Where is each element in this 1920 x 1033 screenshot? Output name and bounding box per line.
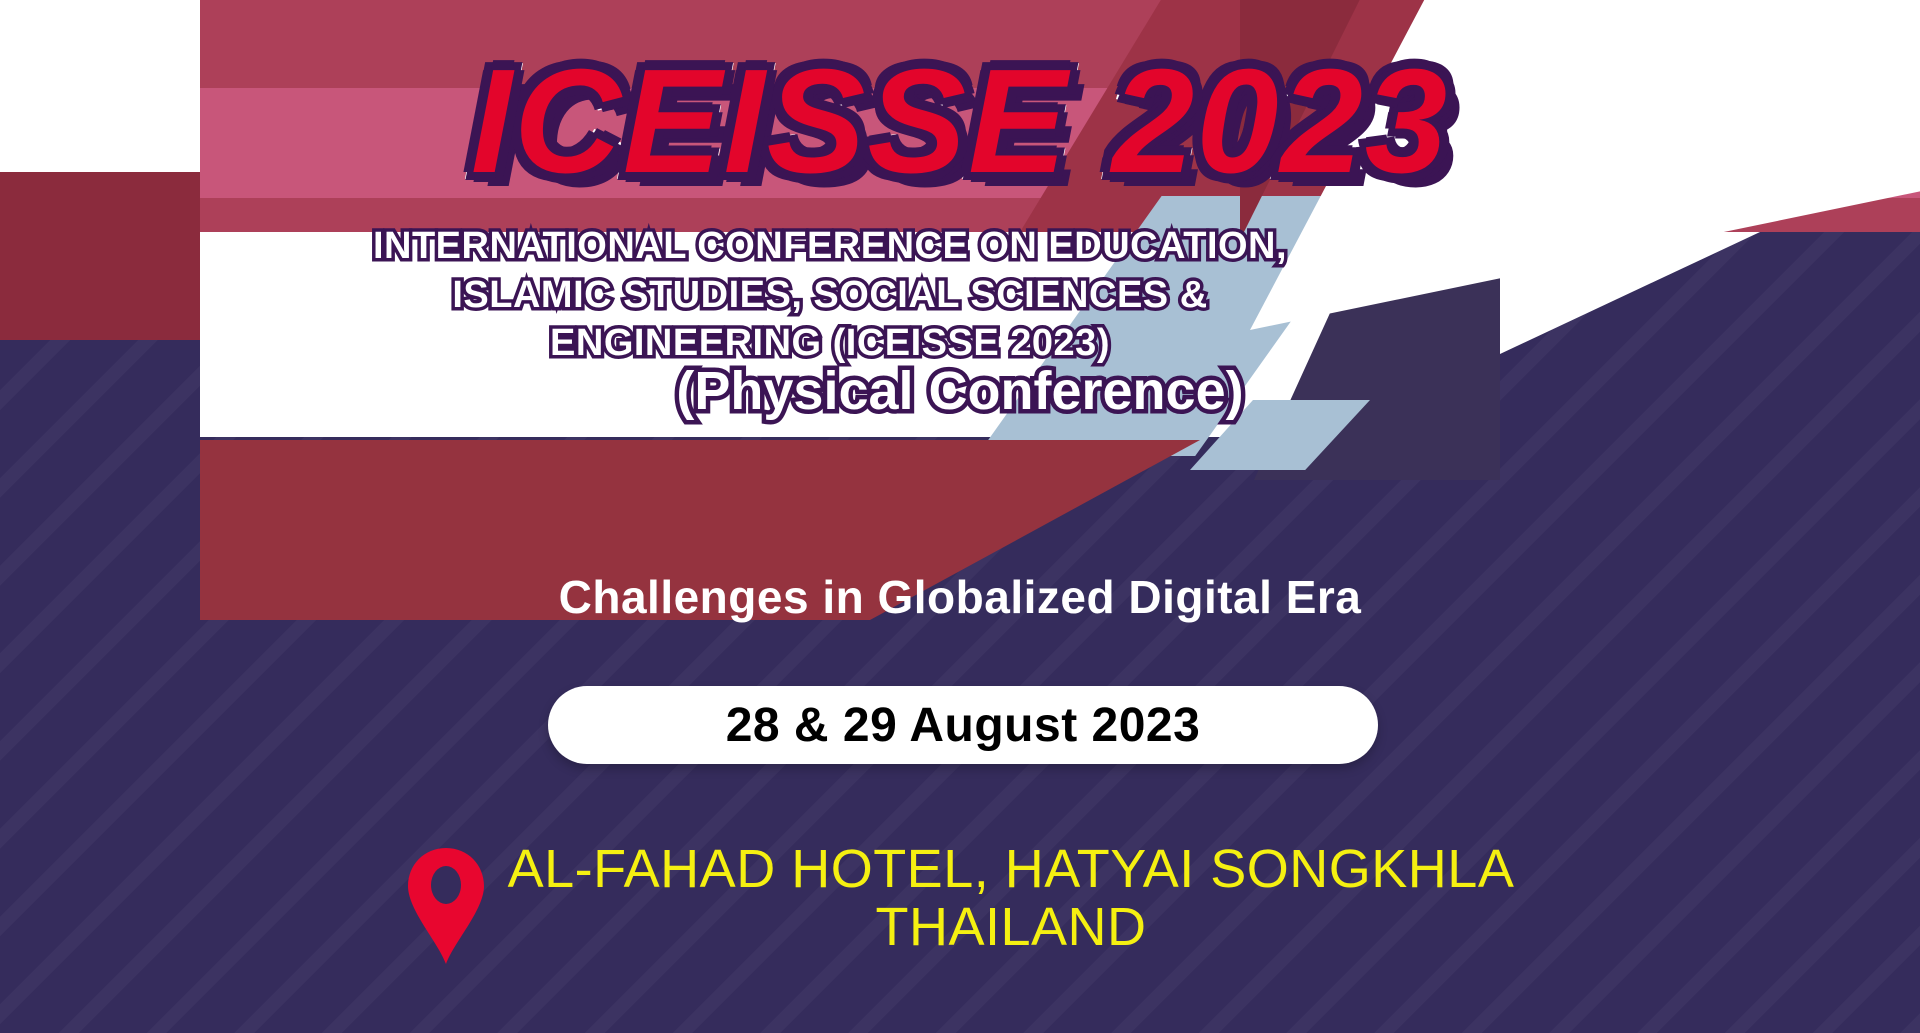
date-pill: 28 & 29 August 2023 bbox=[548, 686, 1378, 764]
conference-banner: ICEISSE 2023 INTERNATIONAL CONFERENCE ON… bbox=[0, 0, 1920, 1033]
conference-format-label: (Physical Conference) bbox=[0, 360, 1920, 422]
conference-title: ICEISSE 2023 bbox=[0, 44, 1920, 199]
conference-date: 28 & 29 August 2023 bbox=[726, 698, 1201, 753]
subtitle-line-1: INTERNATIONAL CONFERENCE ON EDUCATION, bbox=[330, 222, 1330, 271]
venue-line-1: AL-FAHAD HOTEL, HATYAI SONGKHLA bbox=[508, 840, 1515, 898]
venue-row: AL-FAHAD HOTEL, HATYAI SONGKHLA THAILAND bbox=[0, 840, 1920, 971]
map-pin-icon bbox=[406, 846, 486, 971]
venue-line-2: THAILAND bbox=[508, 898, 1515, 956]
banner-content: ICEISSE 2023 INTERNATIONAL CONFERENCE ON… bbox=[0, 0, 1920, 1033]
conference-tagline: Challenges in Globalized Digital Era bbox=[0, 570, 1920, 624]
conference-subtitle: INTERNATIONAL CONFERENCE ON EDUCATION, I… bbox=[330, 222, 1330, 368]
venue-text: AL-FAHAD HOTEL, HATYAI SONGKHLA THAILAND bbox=[508, 840, 1515, 957]
subtitle-line-2: ISLAMIC STUDIES, SOCIAL SCIENCES & bbox=[330, 271, 1330, 320]
